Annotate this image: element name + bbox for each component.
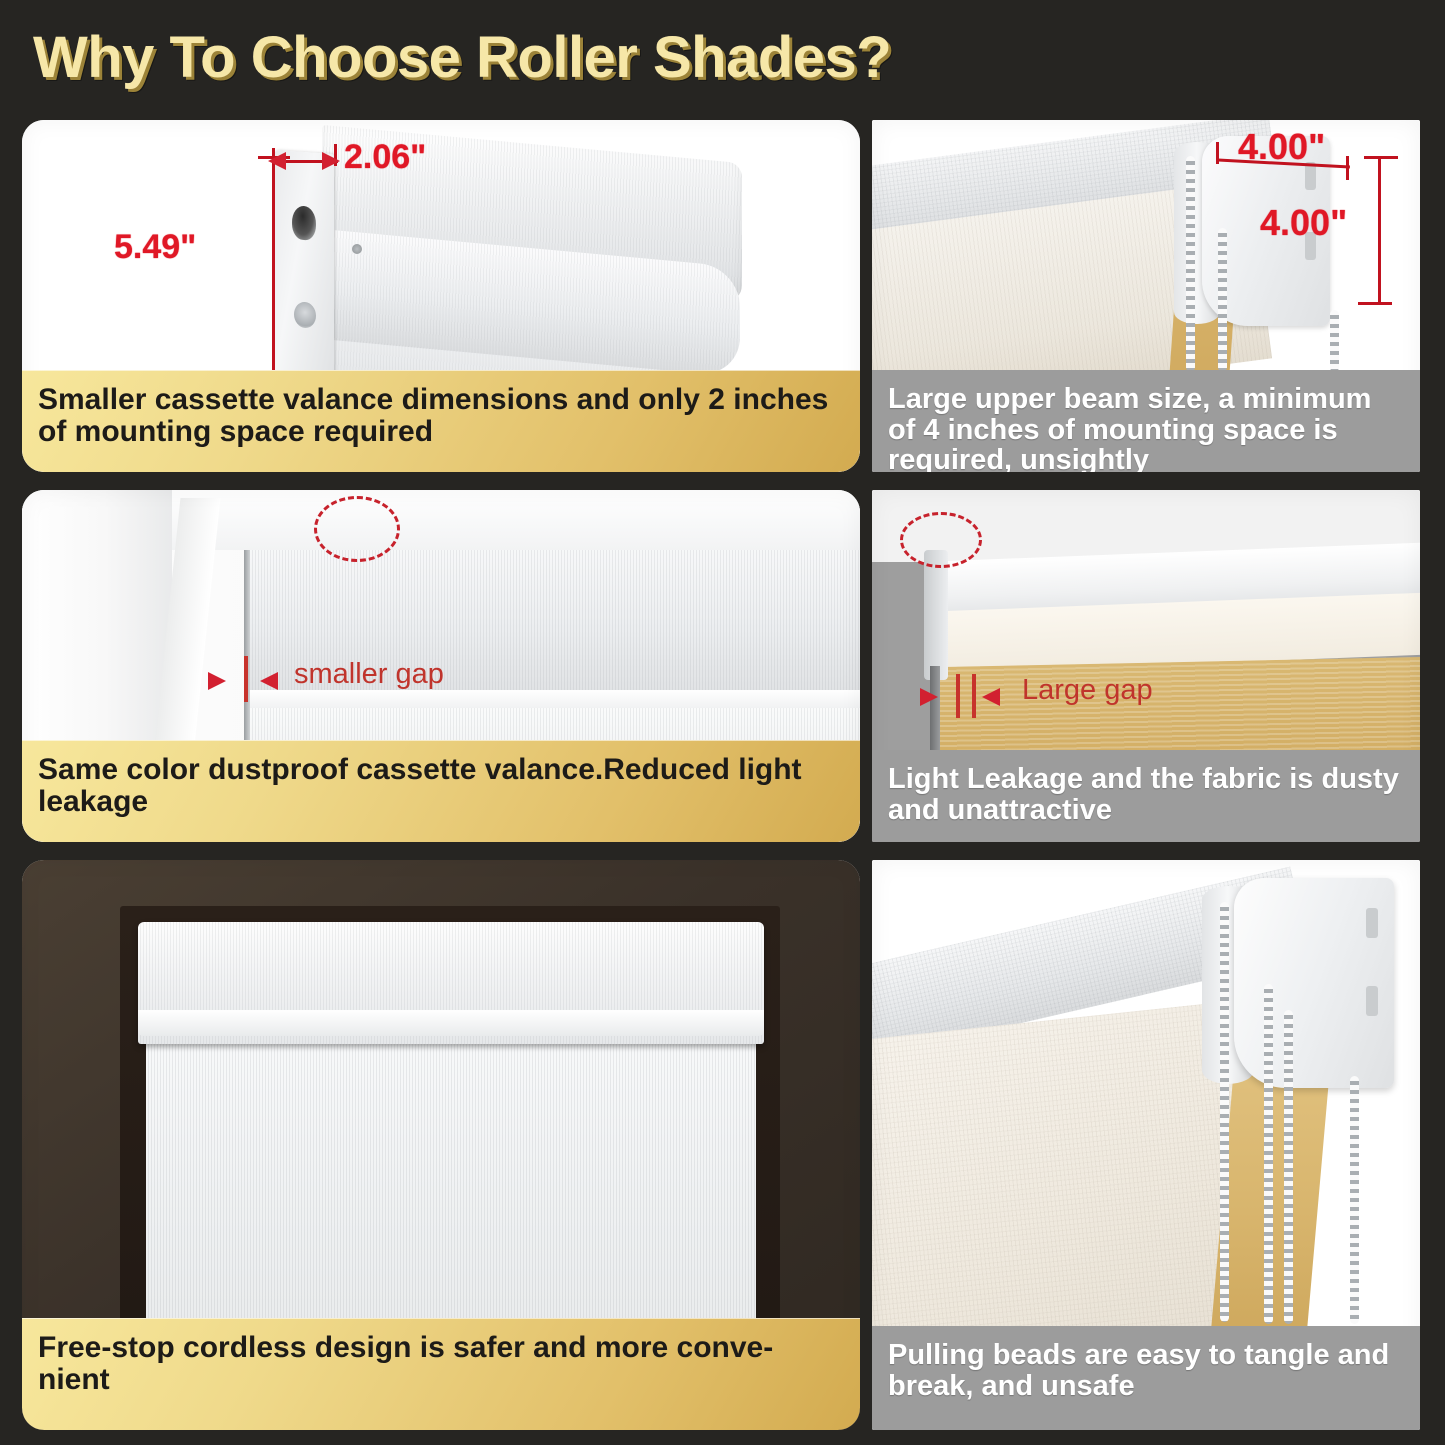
bead-chain [1350,1076,1359,1324]
beam-height-cap-top [1364,156,1398,159]
gap-label-smaller: smaller gap [294,658,444,691]
bead-chain [1220,902,1229,1322]
bead-chain [1284,1010,1293,1324]
width-dim-arrow-right [322,152,340,170]
width-dim-arrow-left [268,152,286,170]
beam-height-line [1378,156,1381,304]
panel-drawback-light-leakage: Large gap Light Leakage and the fabric i… [872,490,1420,842]
gap-arrow-left [208,672,226,690]
panel-advantage-cassette-dimensions: 2.06" 5.49" Smaller cassette valance dim… [22,120,860,472]
beam-height-cap-bottom [1358,302,1392,305]
gap-label-large: Large gap [1022,674,1153,707]
dimension-label-beam-width: 4.00" [1238,126,1325,168]
gap-arrow-left [920,688,938,706]
page-title: Why To Choose Roller Shades? [33,24,891,91]
gap-marker [972,674,976,718]
panel-caption-drawback-3: Pulling beads are easy to tangle and bre… [872,1326,1420,1430]
dimension-label-height: 5.49" [114,228,196,267]
bead-chain [1264,984,1273,1324]
bead-chain [1186,156,1195,372]
gap-marker [244,656,248,702]
panel-caption-drawback-2: Light Leakage and the fabric is dusty an… [872,750,1420,842]
dimension-label-width: 2.06" [344,138,426,177]
highlight-circle-icon [314,496,400,562]
panel-caption-advantage-2: Same color dustproof cassette valance.Re… [22,740,860,842]
panel-caption-advantage-1: Smaller cassette valance dimensions and … [22,370,860,472]
panel-advantage-cordless-design: Free-stop cordless design is safer and m… [22,860,860,1430]
gap-marker [956,674,960,718]
gap-arrow-right [260,672,278,690]
panel-caption-drawback-1: Large upper beam size, a minimum of 4 in… [872,370,1420,472]
gap-arrow-right [982,688,1000,706]
panel-advantage-dustproof-valance: smaller gap Same color dustproof cassett… [22,490,860,842]
highlight-circle-icon [900,512,982,568]
panel-drawback-pulling-beads: Pulling beads are easy to tangle and bre… [872,860,1420,1430]
panel-caption-advantage-3: Free-stop cordless design is safer and m… [22,1318,860,1430]
bead-chain [1330,310,1339,372]
bead-chain [1218,228,1227,372]
dimension-label-beam-height: 4.00" [1260,202,1347,244]
panel-drawback-beam-size: 4.00" 4.00" Large upper beam size, a min… [872,120,1420,472]
